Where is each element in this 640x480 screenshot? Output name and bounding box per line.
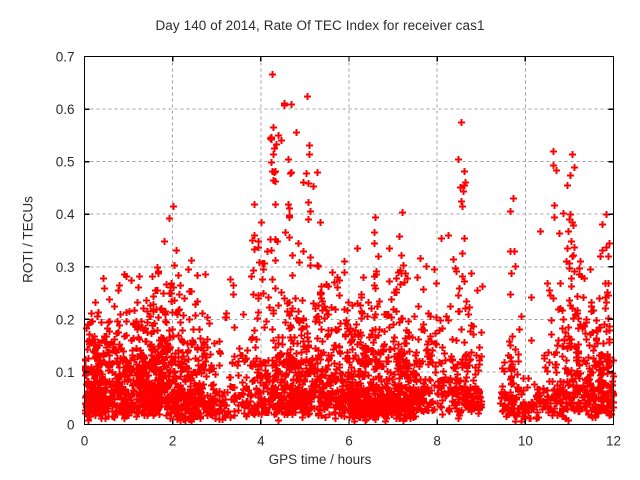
- gridlines: [85, 57, 614, 425]
- x-tick-label: 12: [606, 434, 621, 449]
- y-tick-label: 0.6: [56, 102, 75, 117]
- page-title: Day 140 of 2014, Rate Of TEC Index for r…: [0, 18, 640, 33]
- y-tick-label: 0.5: [56, 155, 75, 170]
- y-tick-label: 0.4: [56, 207, 75, 222]
- y-tick-label: 0: [67, 418, 75, 433]
- plot-frame: [85, 57, 614, 425]
- x-tick-label: 10: [518, 434, 533, 449]
- y-tick-label: 0.2: [56, 312, 75, 327]
- data-points-layer: [82, 71, 617, 425]
- chart-figure: Day 140 of 2014, Rate Of TEC Index for r…: [0, 0, 640, 480]
- y-tick-label: 0.1: [56, 365, 75, 380]
- tick-labels: 00.10.20.30.40.50.60.7024681012: [56, 50, 621, 449]
- y-axis-label: ROTI / TECUs: [21, 160, 36, 320]
- x-tick-label: 8: [433, 434, 441, 449]
- x-tick-label: 6: [345, 434, 353, 449]
- tick-marks: [85, 57, 614, 425]
- x-tick-label: 2: [169, 434, 177, 449]
- scatter-plot-svg: 00.10.20.30.40.50.60.7024681012: [0, 0, 640, 480]
- plot-canvas: 00.10.20.30.40.50.60.7024681012: [0, 0, 640, 480]
- x-tick-label: 0: [81, 434, 89, 449]
- y-tick-label: 0.7: [56, 50, 75, 65]
- x-tick-label: 4: [257, 434, 265, 449]
- y-tick-label: 0.3: [56, 260, 75, 275]
- x-axis-label: GPS time / hours: [0, 452, 640, 467]
